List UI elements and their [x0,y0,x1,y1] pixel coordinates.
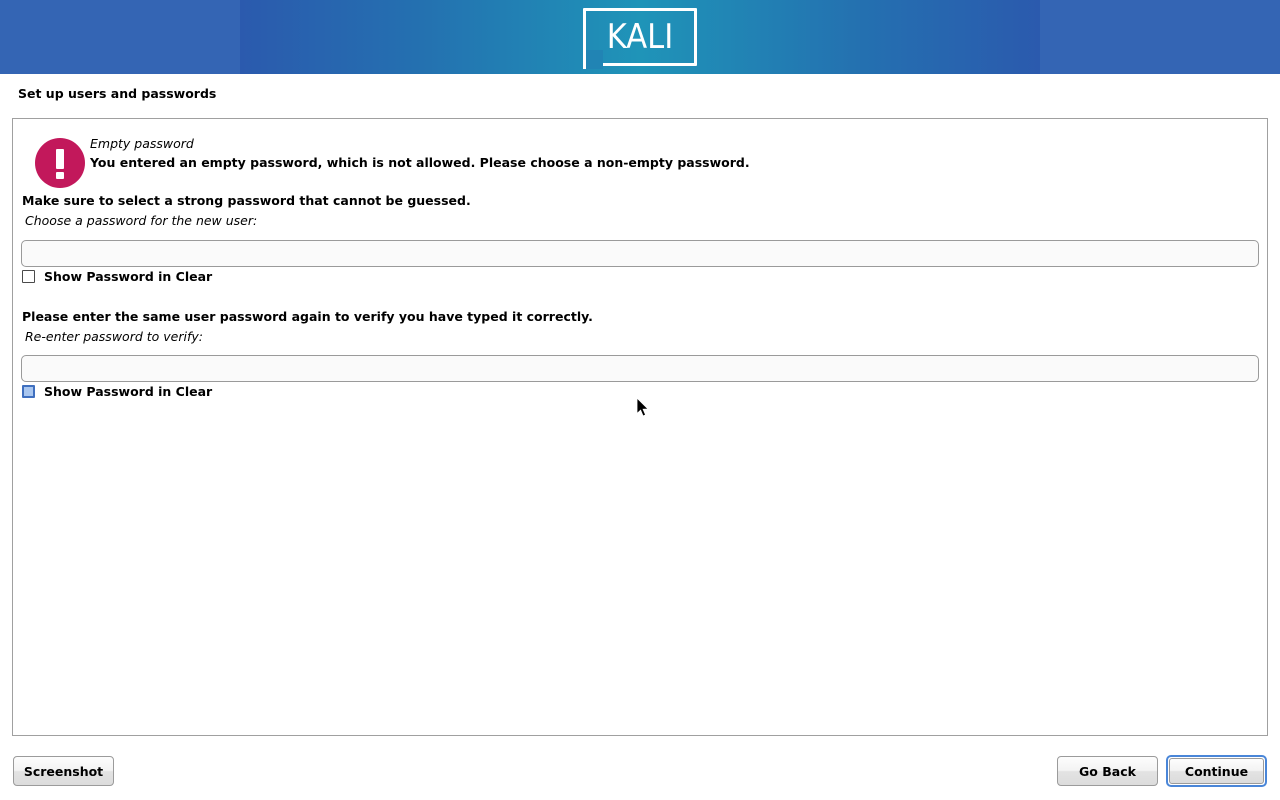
password-field-label: Choose a password for the new user: [25,213,257,228]
exclamation-bar [56,149,64,169]
continue-button-label: Continue [1169,758,1264,784]
show-password-in-clear-row-2[interactable]: Show Password in Clear [22,384,212,399]
error-title: Empty password [90,136,194,151]
verify-password-input[interactable] [21,355,1259,382]
show-password-checkbox-1[interactable] [22,270,35,283]
screenshot-button[interactable]: Screenshot [13,756,114,786]
kali-logo: KALI [583,8,697,66]
error-message: You entered an empty password, which is … [90,155,750,170]
show-password-checkbox-2-label: Show Password in Clear [44,384,212,399]
show-password-checkbox-2[interactable] [22,385,35,398]
verify-field-label: Re-enter password to verify: [25,329,203,344]
password-strength-hint: Make sure to select a strong password th… [22,193,471,208]
password-input[interactable] [21,240,1259,267]
installer-banner: KALI [0,0,1280,74]
installer-content-panel: Empty password You entered an empty pass… [12,118,1268,736]
error-exclamation-icon [35,138,85,188]
show-password-in-clear-row-1[interactable]: Show Password in Clear [22,269,212,284]
page-title: Set up users and passwords [18,86,216,101]
verify-password-hint: Please enter the same user password agai… [22,309,593,324]
exclamation-dot [56,172,64,179]
show-password-checkbox-1-label: Show Password in Clear [44,269,212,284]
go-back-button[interactable]: Go Back [1057,756,1158,786]
kali-logo-text: KALI [583,8,697,66]
continue-button[interactable]: Continue [1166,755,1267,787]
